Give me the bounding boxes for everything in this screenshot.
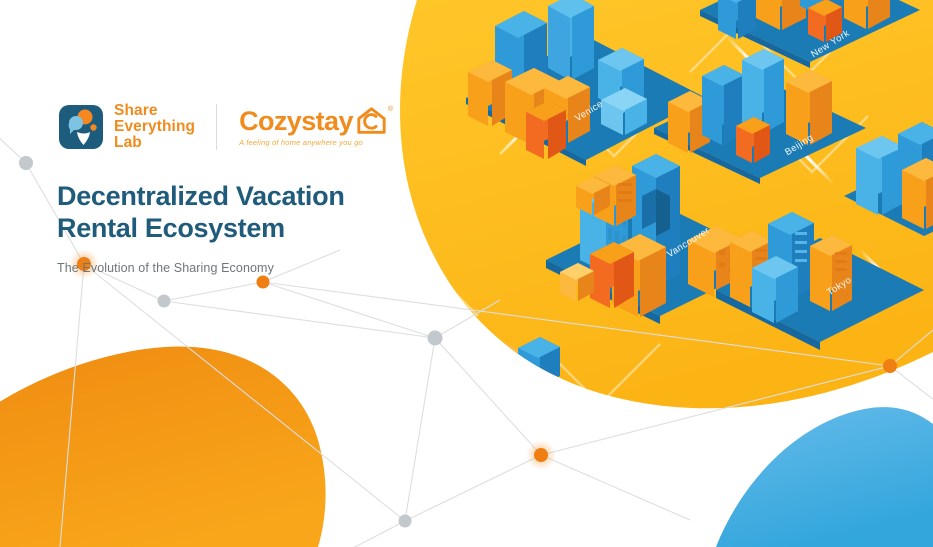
poster-canvas: New YorkVeniceBeijingVancouverTokyo Shar…	[0, 0, 933, 547]
logo-divider	[216, 104, 217, 150]
network-node-gray[interactable]	[428, 331, 443, 346]
orange-blob	[0, 347, 326, 547]
network-edge	[330, 521, 405, 547]
share-everything-lab-logo[interactable]: Share Everything Lab	[57, 103, 195, 151]
sel-line-1: Share	[114, 103, 195, 119]
network-node-gray[interactable]	[399, 515, 412, 528]
sel-line-3: Lab	[114, 135, 195, 151]
share-everything-lab-mark-icon	[57, 103, 105, 151]
cozystay-logo[interactable]: Cozystay ® A feeling of home anywhere yo…	[239, 107, 393, 147]
header-block: Share Everything Lab Cozystay ® A feelin…	[57, 96, 477, 275]
cozystay-tagline: A feeling of home anywhere you go	[239, 138, 393, 147]
cozystay-wordmark: Cozystay	[239, 107, 353, 135]
network-edge	[263, 282, 435, 338]
network-node-orange[interactable]	[257, 276, 270, 289]
network-node-orange[interactable]	[883, 359, 897, 373]
logo-row: Share Everything Lab Cozystay ® A feelin…	[57, 96, 477, 158]
network-edge	[164, 301, 435, 338]
sel-line-2: Everything	[114, 119, 195, 135]
network-node-orange[interactable]	[534, 448, 548, 462]
cozystay-house-icon	[356, 106, 387, 135]
registered-mark-icon: ®	[388, 106, 393, 113]
network-edge	[405, 455, 541, 521]
network-edge	[541, 455, 690, 520]
network-node-gray[interactable]	[158, 295, 171, 308]
network-edge	[164, 282, 263, 301]
network-node-gray[interactable]	[19, 156, 33, 170]
page-subtitle: The Evolution of the Sharing Economy	[57, 261, 477, 275]
cozystay-top-row: Cozystay ®	[239, 107, 393, 135]
page-title: Decentralized Vacation Rental Ecosystem	[57, 180, 477, 244]
network-edge	[0, 120, 26, 163]
blue-blob	[716, 407, 933, 547]
network-edge	[405, 338, 435, 521]
share-everything-lab-wordmark: Share Everything Lab	[114, 103, 195, 150]
